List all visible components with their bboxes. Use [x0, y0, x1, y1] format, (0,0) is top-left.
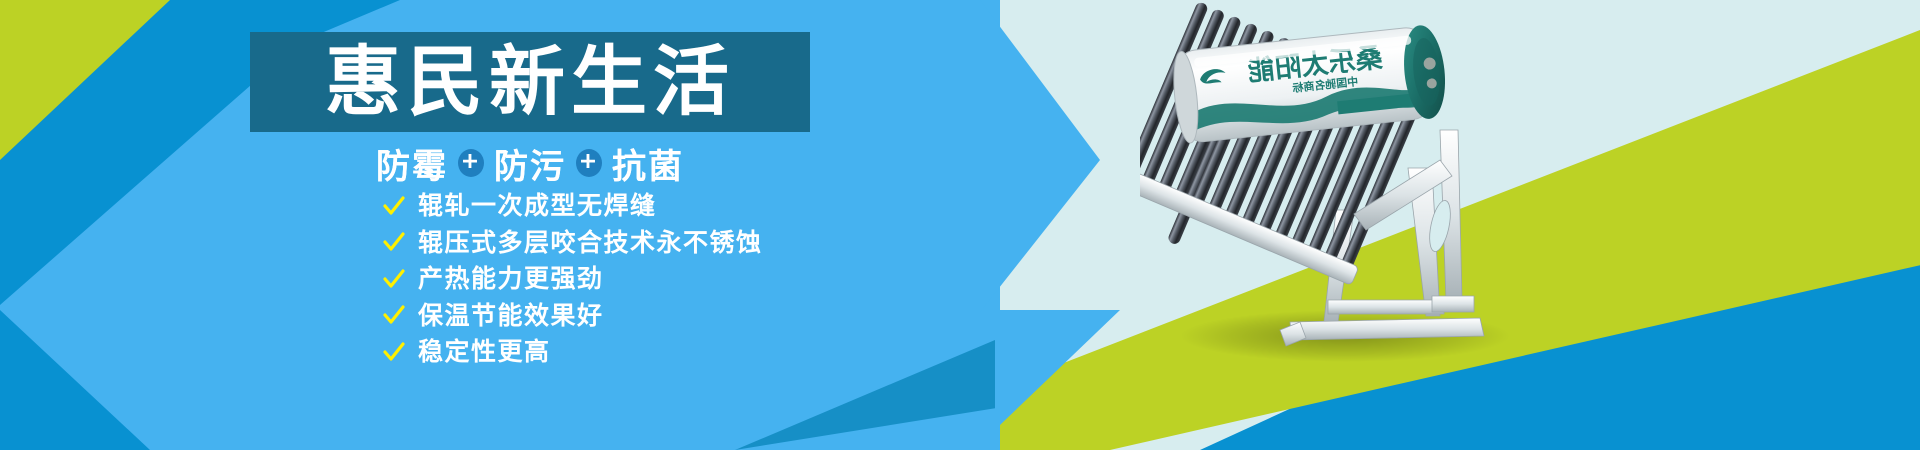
feature-list: 辊轧一次成型无焊缝 辊压式多层咬合技术永不锈蚀 产热能力更强劲 保温节能效果好: [383, 192, 943, 366]
list-item-label: 保温节能效果好: [418, 302, 604, 330]
subtitle-word-3: 抗菌: [612, 139, 684, 188]
list-item: 辊压式多层咬合技术永不锈蚀: [383, 229, 943, 257]
list-item-label: 辊压式多层咬合技术永不锈蚀: [418, 229, 763, 257]
list-item-label: 辊轧一次成型无焊缝: [418, 192, 657, 220]
list-item-label: 稳定性更高: [418, 338, 551, 366]
plus-icon: +: [458, 149, 484, 177]
list-item-label: 产热能力更强劲: [418, 265, 604, 293]
list-item: 产热能力更强劲: [383, 265, 943, 293]
product-image-solar-water-heater: 桑乐太阳能 中国驰名商标: [1140, 0, 1570, 400]
subtitle-word-2: 防污: [494, 139, 566, 188]
list-item: 辊轧一次成型无焊缝: [383, 192, 943, 220]
check-icon: [383, 268, 405, 290]
page-title: 惠民新生活: [325, 44, 735, 120]
list-item: 稳定性更高: [383, 338, 943, 366]
headline-box: 惠民新生活: [250, 32, 810, 132]
check-icon: [383, 304, 405, 326]
promo-banner: 惠民新生活 防霉 + 防污 + 抗菌 辊轧一次成型无焊缝 辊压式多层咬合技术永不…: [0, 0, 1920, 450]
subtitle-row: 防霉 + 防污 + 抗菌: [250, 140, 810, 186]
check-icon: [383, 195, 405, 217]
check-icon: [383, 341, 405, 363]
plus-icon: +: [576, 149, 602, 177]
list-item: 保温节能效果好: [383, 302, 943, 330]
check-icon: [383, 231, 405, 253]
subtitle-word-1: 防霉: [376, 139, 448, 188]
